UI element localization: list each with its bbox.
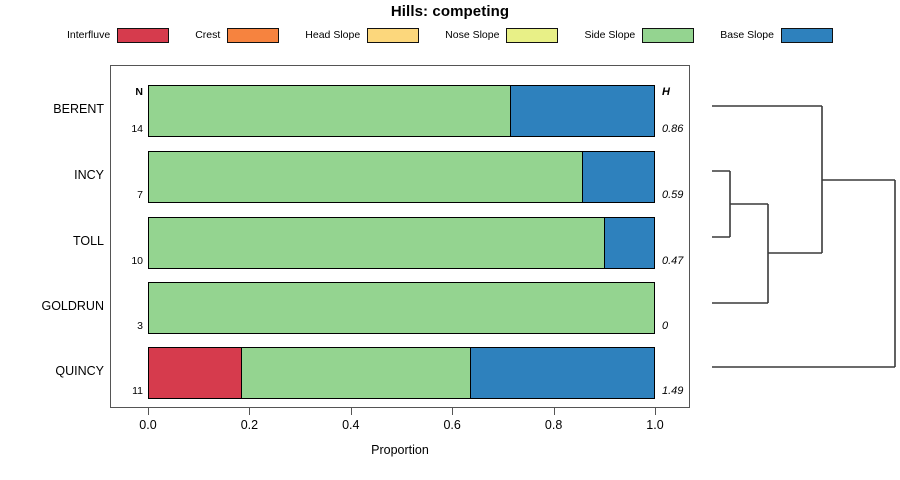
dendrogram-svg xyxy=(690,60,900,410)
y-axis-label-quincy: QUINCY xyxy=(4,364,104,378)
bar-segment-base-slope xyxy=(604,218,655,268)
bar-quincy xyxy=(148,347,655,399)
x-axis-tick xyxy=(351,408,352,415)
x-axis-tick xyxy=(554,408,555,415)
bar-segment-base-slope xyxy=(470,348,654,398)
x-axis-tick-label: 1.0 xyxy=(635,418,675,432)
dendrogram xyxy=(690,60,900,410)
n-value-toll: 10 xyxy=(117,255,143,267)
x-axis-tick-label: 0.4 xyxy=(331,418,371,432)
bar-segment-side-slope xyxy=(241,348,470,398)
x-axis-tick-label: 0.2 xyxy=(229,418,269,432)
x-axis-title: Proportion xyxy=(110,443,690,457)
bar-segment-side-slope xyxy=(149,86,510,136)
bar-incy xyxy=(148,151,655,203)
bar-segment-base-slope xyxy=(510,86,654,136)
bar-segment-interfluve xyxy=(149,348,241,398)
n-value-goldrun: 3 xyxy=(117,320,143,332)
x-axis-tick-label: 0.6 xyxy=(432,418,472,432)
x-axis-tick xyxy=(655,408,656,415)
bar-segment-side-slope xyxy=(149,218,604,268)
y-axis-label-goldrun: GOLDRUN xyxy=(4,299,104,313)
y-axis-label-berent: BERENT xyxy=(4,102,104,116)
bar-berent xyxy=(148,85,655,137)
bar-goldrun xyxy=(148,282,655,334)
n-value-berent: 14 xyxy=(117,123,143,135)
x-axis-tick xyxy=(148,408,149,415)
chart-root: Hills: competing Interfluve Crest Head S… xyxy=(0,0,900,480)
x-axis-tick xyxy=(452,408,453,415)
x-axis-tick-label: 0.8 xyxy=(534,418,574,432)
x-axis-tick xyxy=(249,408,250,415)
n-value-incy: 7 xyxy=(117,189,143,201)
x-axis-tick-label: 0.0 xyxy=(128,418,168,432)
n-value-quincy: 11 xyxy=(117,385,143,397)
bar-segment-side-slope xyxy=(149,152,582,202)
n-column-header: N xyxy=(117,86,143,98)
bar-toll xyxy=(148,217,655,269)
y-axis-label-toll: TOLL xyxy=(4,234,104,248)
bar-segment-base-slope xyxy=(582,152,654,202)
bar-segment-side-slope xyxy=(149,283,654,333)
y-axis-label-incy: INCY xyxy=(4,168,104,182)
